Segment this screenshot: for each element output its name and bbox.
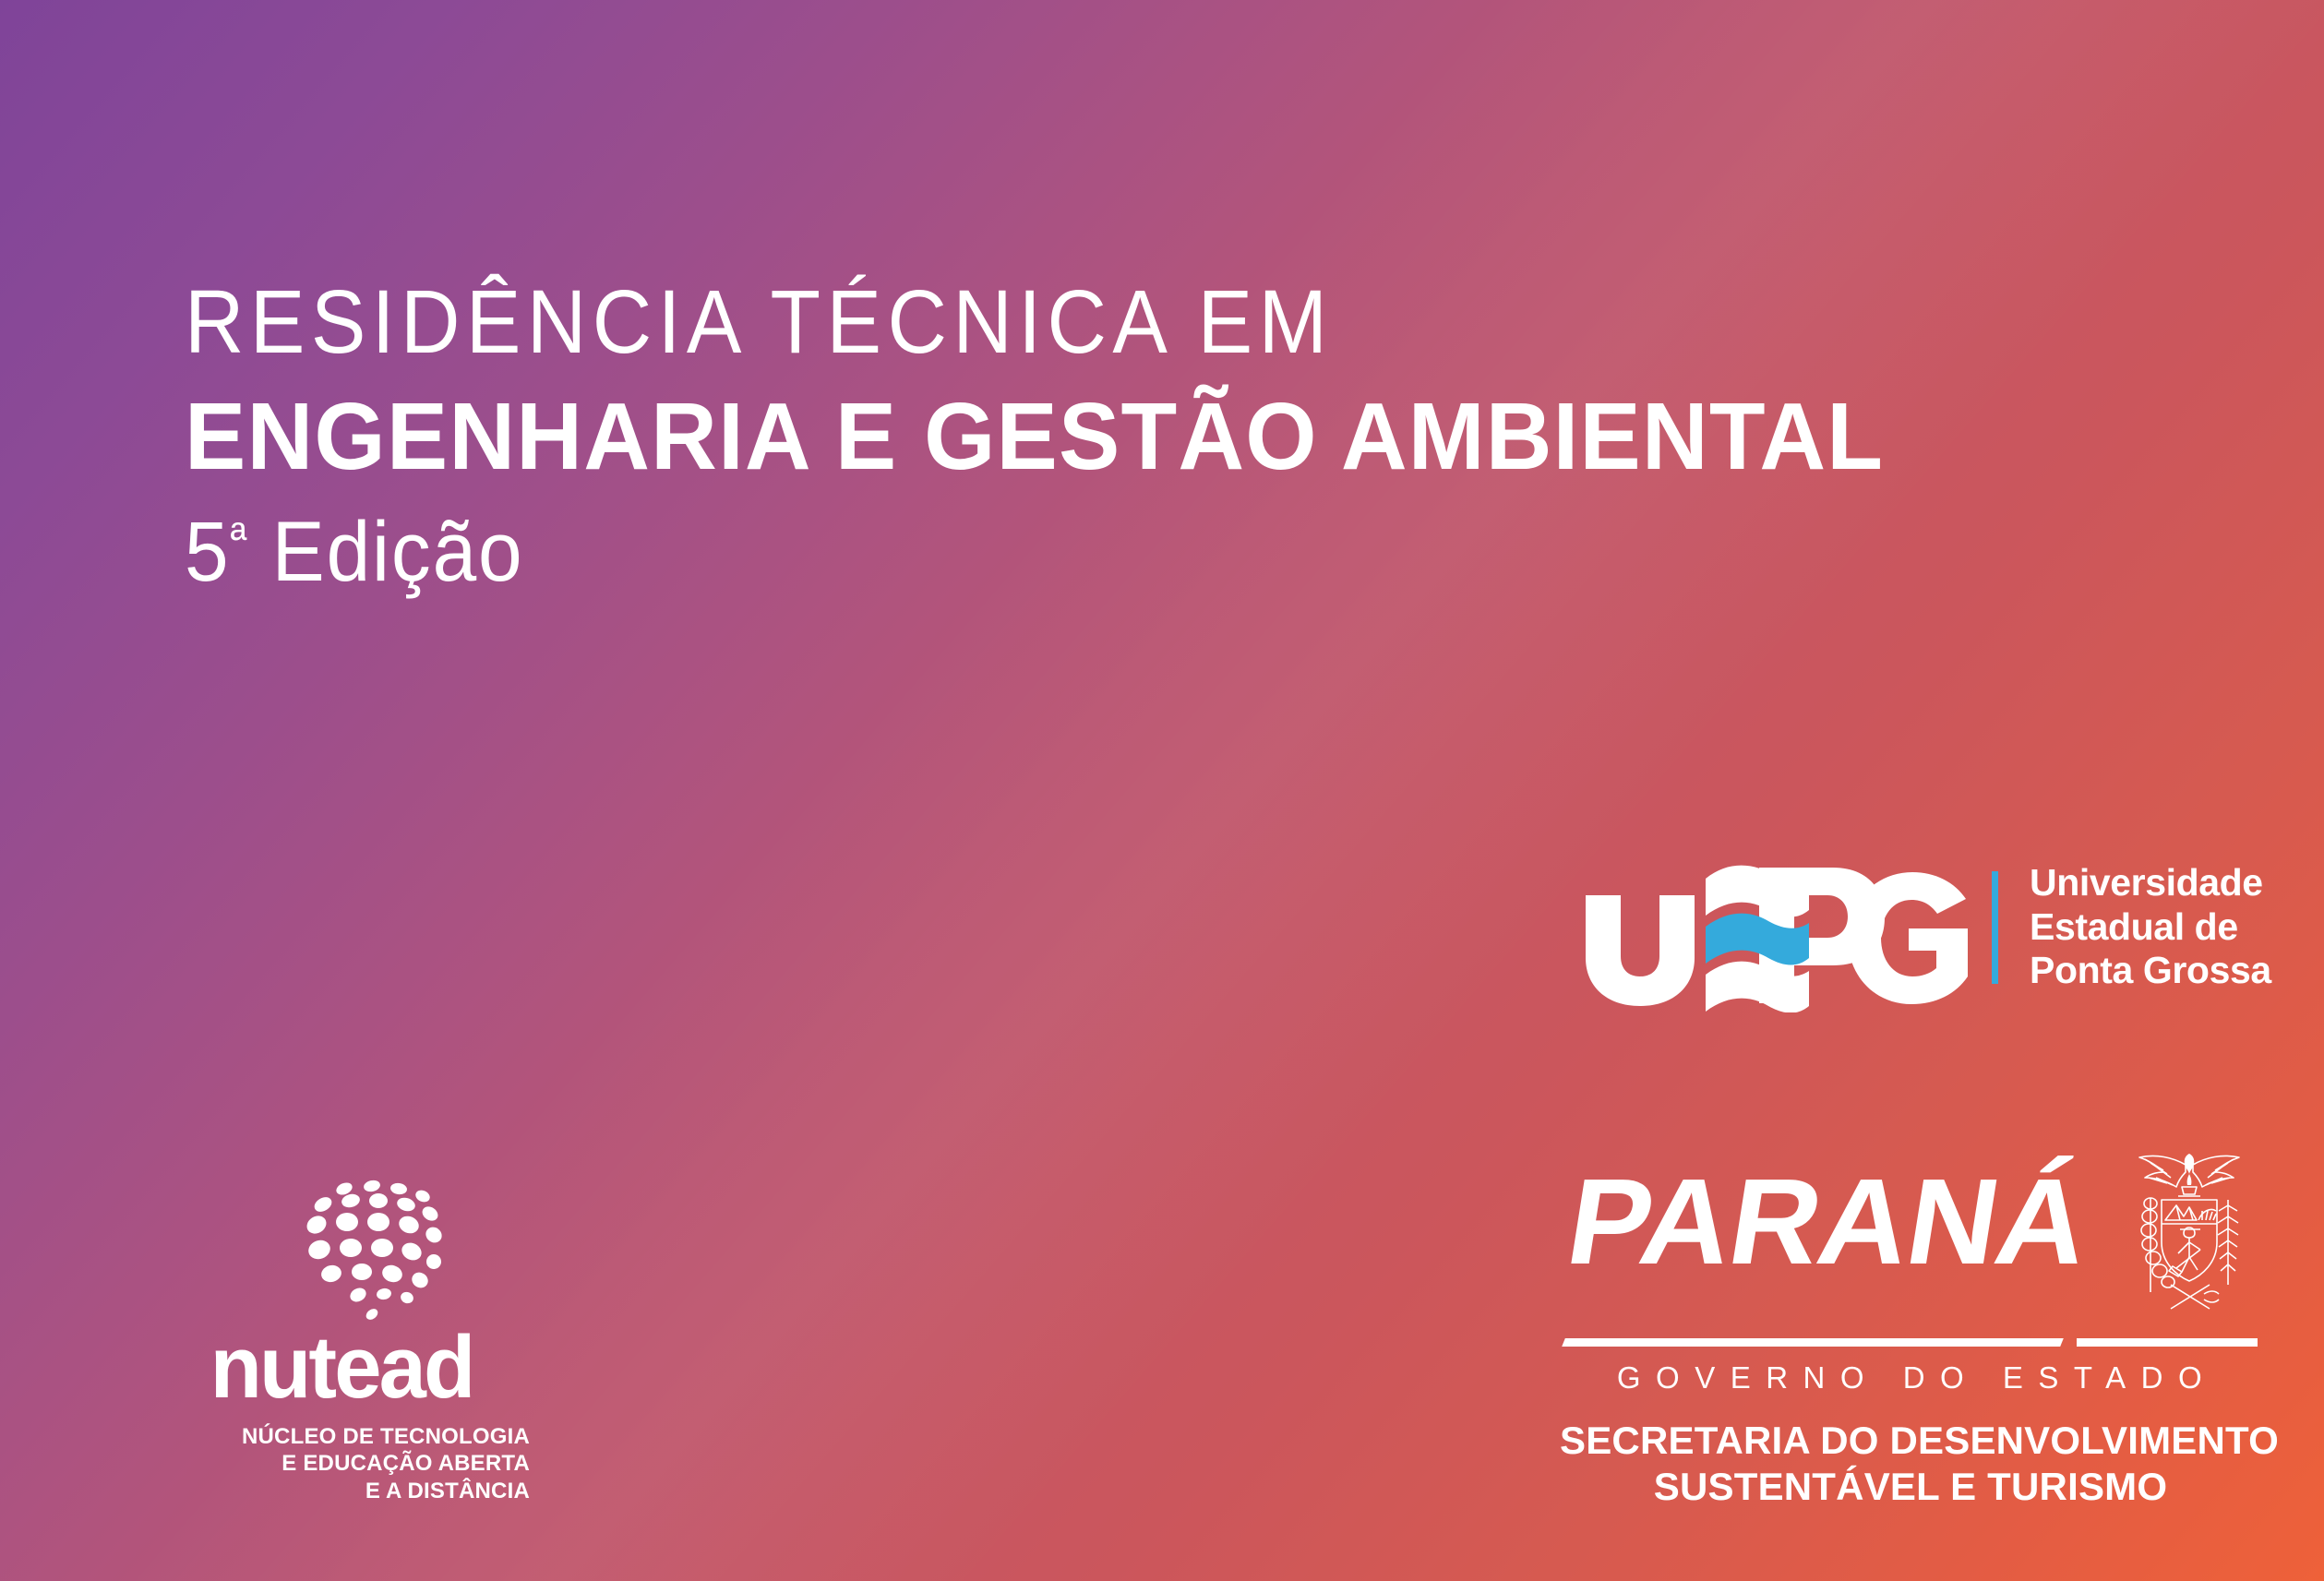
uepg-divider <box>1992 871 1998 984</box>
page-title-eyebrow: RESIDÊNCIA TÉCNICA EM <box>185 277 1804 366</box>
edition-number: 5 <box>185 505 230 599</box>
nutead-tagline-line-3: E A DISTÂNCIA <box>148 1478 530 1504</box>
parana-rule <box>1560 1338 2261 1347</box>
page-title-main: ENGENHARIA E GESTÃO AMBIENTAL <box>185 389 1884 484</box>
parana-tagline: GOVERNO DO ESTADO <box>1560 1360 2261 1395</box>
parana-secretaria: SECRETARIA DO DESENVOLVIMENTO SUSTENTÁVE… <box>1560 1418 2261 1509</box>
nutead-wordmark: nutead <box>155 1323 527 1412</box>
uepg-wordmark-icon <box>1578 842 1975 1012</box>
nutead-tagline-line-1: NÚCLEO DE TECNOLOGIA <box>148 1423 530 1450</box>
uepg-name: Universidade Estadual de Ponta Grossa <box>2030 861 2271 994</box>
uepg-name-line-2: Estadual de <box>2030 905 2271 950</box>
nutead-tagline: NÚCLEO DE TECNOLOGIA E EDUCAÇÃO ABERTA E… <box>148 1423 535 1504</box>
nutead-sphere-icon <box>148 1174 535 1329</box>
poster-canvas: RESIDÊNCIA TÉCNICA EM ENGENHARIA E GESTÃ… <box>0 0 2324 1581</box>
edition-word: Edição <box>272 505 524 599</box>
parana-coat-of-arms-icon <box>2125 1146 2254 1331</box>
edition-ordinal: ª <box>230 512 248 566</box>
nutead-tagline-line-2: E EDUCAÇÃO ABERTA <box>148 1450 530 1477</box>
parana-top-row: PARANÁ <box>1560 1146 2261 1359</box>
parana-rule-right <box>2077 1338 2258 1347</box>
uepg-name-line-1: Universidade <box>2030 861 2271 905</box>
parana-secretaria-line-1: SECRETARIA DO DESENVOLVIMENTO <box>1560 1418 2261 1464</box>
uepg-name-line-3: Ponta Grossa <box>2030 949 2271 993</box>
uepg-logo: Universidade Estadual de Ponta Grossa <box>1578 842 2261 1012</box>
parana-secretaria-line-2: SUSTENTÁVEL E TURISMO <box>1560 1464 2261 1510</box>
parana-wordmark: PARANÁ <box>1560 1161 2096 1283</box>
nutead-logo: nutead NÚCLEO DE TECNOLOGIA E EDUCAÇÃO A… <box>148 1174 535 1504</box>
parana-rule-left <box>1562 1338 2064 1347</box>
title-block: RESIDÊNCIA TÉCNICA EM ENGENHARIA E GESTÃ… <box>185 277 1946 594</box>
page-title-edition: 5ª Edição <box>185 509 1822 594</box>
parana-logo: PARANÁ <box>1560 1146 2261 1509</box>
